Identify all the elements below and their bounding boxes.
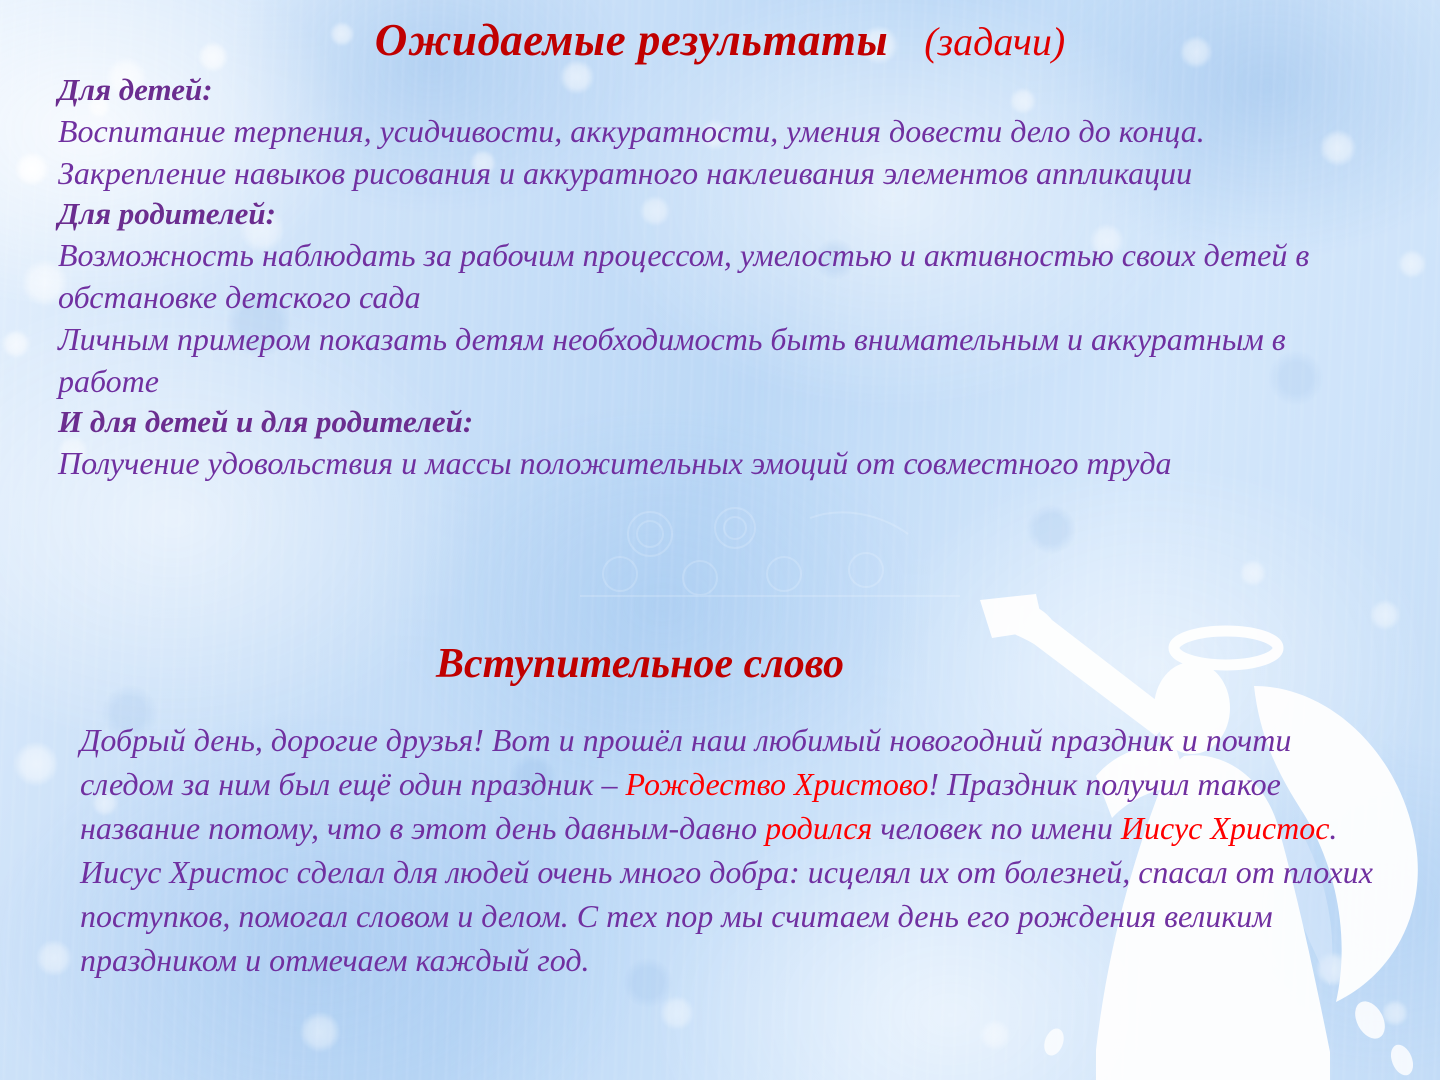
slide-content: Ожидаемые результаты(задачи) Для детей: … [0, 0, 1440, 1080]
narrative-highlight-jesus-christ: Иисус Христос [1121, 810, 1330, 846]
section-heading: Вступительное слово [0, 640, 1280, 688]
title-main-text: Ожидаемые результаты [375, 15, 888, 65]
page-title: Ожидаемые результаты(задачи) [0, 14, 1440, 66]
goals-children-label: Для детей: [58, 70, 1388, 110]
title-subtitle-text: (задачи) [924, 19, 1065, 64]
narrative-p1-part-c: человек по имени [872, 810, 1121, 846]
goals-children-line-1: Воспитание терпения, усидчивости, аккура… [58, 110, 1388, 152]
narrative-highlight-christmas: Рождество Христово [626, 766, 929, 802]
narrative-paragraph-1: Добрый день, дорогие друзья! Вот и прошё… [80, 718, 1380, 850]
goals-children-line-2: Закрепление навыков рисования и аккуратн… [58, 152, 1388, 194]
presentation-slide: Ожидаемые результаты(задачи) Для детей: … [0, 0, 1440, 1080]
narrative-p1-part-d: . [1329, 810, 1337, 846]
narrative-paragraph-2: Иисус Христос сделал для людей очень мно… [80, 850, 1380, 982]
goals-parents-line-1: Возможность наблюдать за рабочим процесс… [58, 234, 1388, 318]
goals-parents-line-2: Личным примером показать детям необходим… [58, 318, 1388, 402]
goals-both-line-1: Получение удовольствия и массы положител… [58, 442, 1388, 484]
introductory-speech-block: Добрый день, дорогие друзья! Вот и прошё… [80, 718, 1380, 982]
narrative-highlight-born: родился [765, 810, 872, 846]
goals-parents-label: Для родителей: [58, 194, 1388, 234]
goals-both-label: И для детей и для родителей: [58, 402, 1388, 442]
expected-results-block: Для детей: Воспитание терпения, усидчиво… [58, 70, 1388, 484]
